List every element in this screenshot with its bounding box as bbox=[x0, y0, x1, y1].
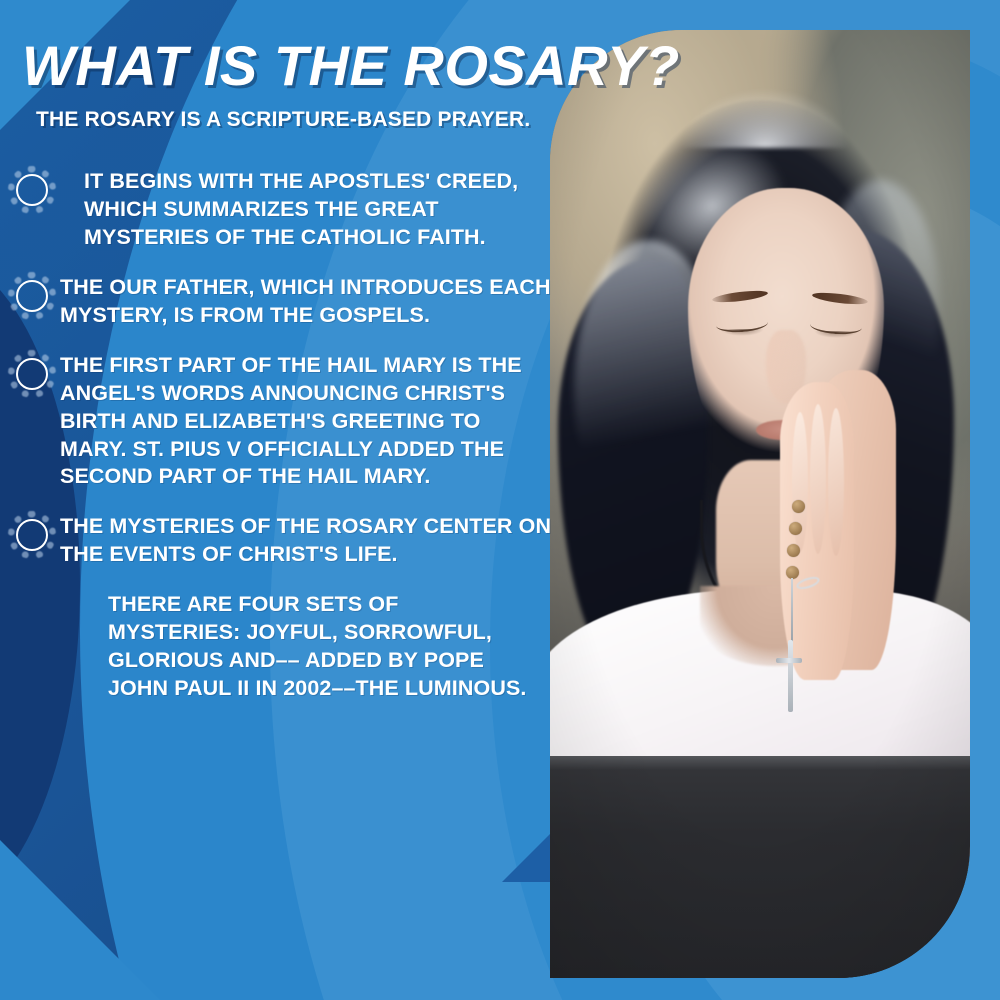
bullet-list: IT BEGINS WITH THE APOSTLES' CREED, WHIC… bbox=[0, 168, 560, 725]
circle-bullet-icon bbox=[0, 352, 60, 392]
list-item: IT BEGINS WITH THE APOSTLES' CREED, WHIC… bbox=[0, 168, 560, 252]
list-item: THE MYSTERIES OF THE ROSARY CENTER ON TH… bbox=[0, 513, 560, 569]
page-subtitle: THE ROSARY IS A SCRIPTURE-BASED PRAYER. bbox=[36, 108, 530, 132]
list-item: THE OUR FATHER, WHICH INTRODUCES EACH MY… bbox=[0, 274, 560, 330]
bullet-ring bbox=[16, 174, 48, 206]
bullet-ring bbox=[16, 358, 48, 390]
photo-vignette bbox=[550, 30, 970, 978]
list-item: THE FIRST PART OF THE HAIL MARY IS THE A… bbox=[0, 352, 560, 492]
circle-bullet-icon bbox=[0, 513, 60, 553]
poster-content: WHAT IS THE ROSARY? THE ROSARY IS A SCRI… bbox=[0, 0, 560, 1000]
circle-bullet-icon bbox=[0, 274, 60, 314]
praying-woman-photo bbox=[550, 30, 970, 978]
circle-bullet-icon bbox=[0, 168, 60, 208]
list-item-text: THE FIRST PART OF THE HAIL MARY IS THE A… bbox=[60, 352, 560, 492]
sub-note-text: THERE ARE FOUR SETS OF MYSTERIES: JOYFUL… bbox=[108, 591, 528, 703]
bullet-ring bbox=[16, 280, 48, 312]
list-item-text: IT BEGINS WITH THE APOSTLES' CREED, WHIC… bbox=[60, 168, 560, 252]
page-title: WHAT IS THE ROSARY? bbox=[22, 38, 680, 94]
list-item-text: THE OUR FATHER, WHICH INTRODUCES EACH MY… bbox=[60, 274, 560, 330]
list-item-text: THE MYSTERIES OF THE ROSARY CENTER ON TH… bbox=[60, 513, 560, 569]
